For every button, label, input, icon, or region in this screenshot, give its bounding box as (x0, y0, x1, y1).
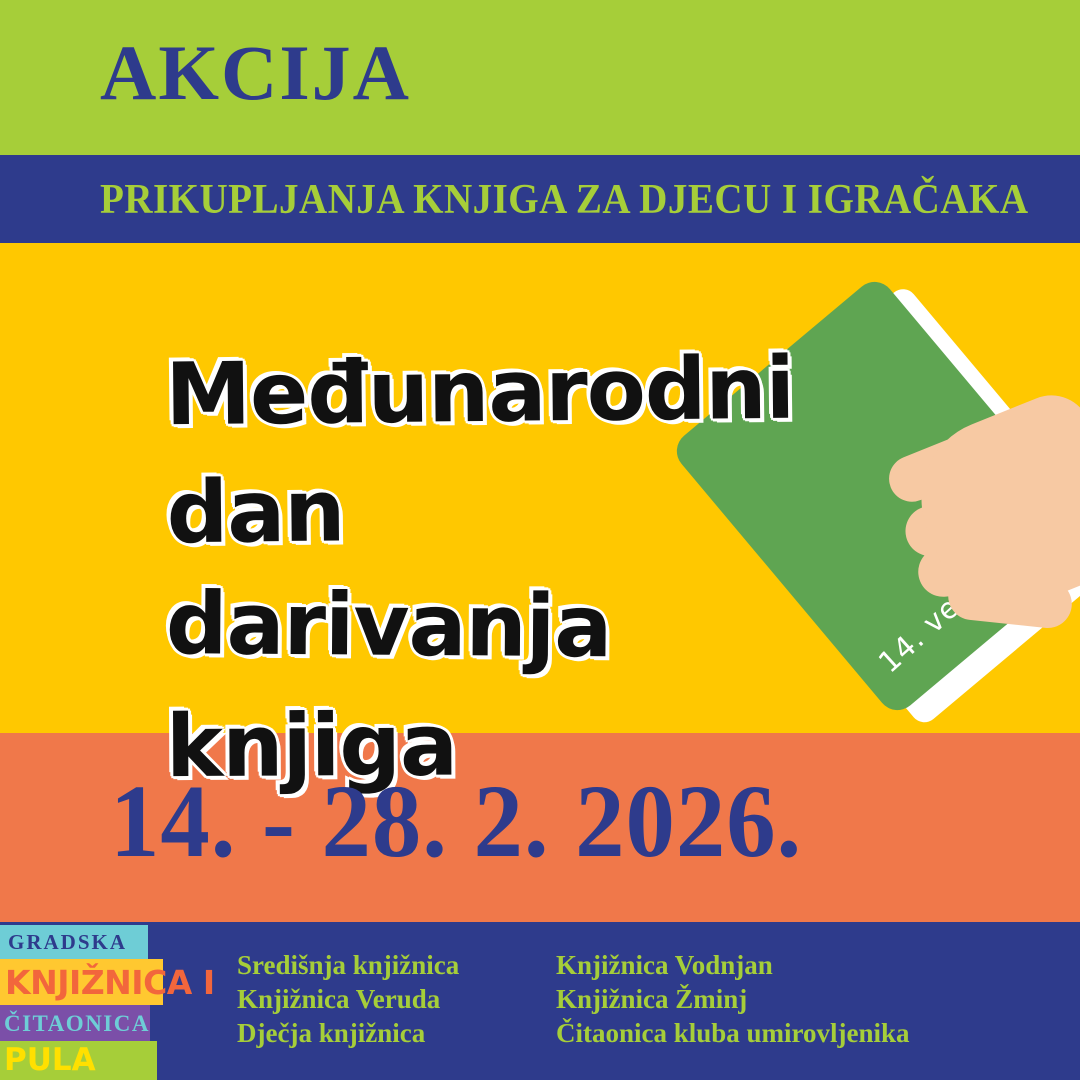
branch-item: Čitaonica kluba umirovljenika (556, 1016, 910, 1050)
subtitle-heading: PRIKUPLJANJA KNJIGA ZA DJECU I IGRAČAKA (100, 176, 1029, 224)
main-title-line-2: darivanja (166, 565, 987, 689)
logo-label-pula: PULA (4, 1045, 96, 1076)
logo-block-gradska: GRADSKA (0, 925, 148, 959)
library-logo: GRADSKA KNJIŽNICA I ČITAONICA PULA (0, 925, 163, 1080)
branch-item: Knjižnica Vodnjan (556, 948, 910, 982)
kicker-heading: AKCIJA (100, 34, 411, 112)
logo-block-knjiznica: KNJIŽNICA I (0, 959, 163, 1005)
date-range: 14. - 28. 2. 2026. (110, 762, 802, 881)
poster-canvas: AKCIJA PRIKUPLJANJA KNJIGA ZA DJECU I IG… (0, 0, 1080, 1080)
logo-block-citaonica: ČITAONICA (0, 1005, 150, 1041)
logo-label-gradska: GRADSKA (8, 932, 127, 953)
branch-item: Središnja knjižnica (237, 948, 556, 982)
logo-label-citaonica: ČITAONICA (4, 1012, 150, 1035)
main-title: Međunarodni dan darivanja knjiga (166, 332, 986, 804)
branch-list: Središnja knjižnica Knjižnica Vodnjan Kn… (237, 948, 910, 1050)
branch-item: Dječja knjižnica (237, 1016, 556, 1050)
logo-block-pula: PULA (0, 1041, 157, 1080)
main-title-line-1: Međunarodni dan (165, 328, 987, 573)
branch-item: Knjižnica Veruda (237, 982, 556, 1016)
branch-item: Knjižnica Žminj (556, 982, 910, 1016)
logo-label-knjiznica: KNJIŽNICA I (5, 966, 215, 999)
